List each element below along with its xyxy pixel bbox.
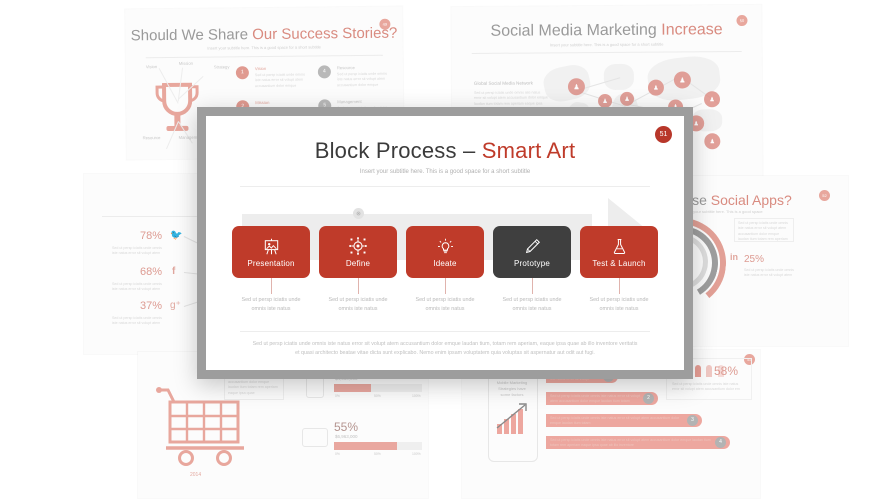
presentation-board-icon bbox=[263, 236, 280, 256]
page-title-primary: Block Process – bbox=[315, 138, 482, 163]
network-node[interactable]: ♟ bbox=[648, 80, 664, 96]
ecommerce-axis-1-mid: 50% bbox=[374, 394, 381, 398]
success-item-label-2: Mission bbox=[255, 100, 269, 105]
network-node[interactable]: ♟ bbox=[674, 71, 691, 88]
process-block-prototype[interactable]: Prototype bbox=[493, 226, 571, 278]
bg-socialapps-title-accent: Social Apps? bbox=[711, 192, 792, 208]
googleplus-icon: g⁺ bbox=[170, 300, 181, 311]
connector-line bbox=[271, 278, 272, 294]
connector-line bbox=[532, 278, 533, 294]
pencil-icon bbox=[524, 236, 541, 256]
process-block-row: Presentation bbox=[232, 226, 658, 278]
whatpeople-value-78: 78% bbox=[140, 230, 162, 242]
success-item-label-1: Vision bbox=[255, 66, 266, 71]
trophy-label-vision: Vision bbox=[146, 64, 157, 69]
process-caption: Sed ut persp iciatis unde omnis iste nat… bbox=[319, 296, 397, 314]
socialapps-stat-value: 25% bbox=[744, 254, 764, 265]
active-slide: 51 Block Process – Smart Art Insert your… bbox=[206, 116, 684, 370]
process-connector bbox=[406, 278, 484, 294]
whatpeople-body-78: Sed ut persp iciatis unde omnis iste nat… bbox=[112, 246, 162, 257]
body-paragraph: Sed ut persp iciatis unde omnis iste nat… bbox=[252, 340, 638, 359]
ecommerce-bar-track-2 bbox=[334, 442, 422, 450]
slide-gallery-canvas: Should We Share Our Success Stories? Ins… bbox=[0, 0, 889, 500]
monitor-icon bbox=[302, 428, 328, 447]
connector-line bbox=[619, 278, 620, 294]
bar-chart-growth-icon bbox=[495, 402, 531, 436]
whatpeople-body-68: Sed ut persp iciatis unde omnis iste nat… bbox=[112, 282, 162, 293]
network-node[interactable]: ♟ bbox=[620, 92, 634, 106]
network-node[interactable]: ♟ bbox=[568, 78, 585, 95]
process-connector bbox=[493, 278, 571, 294]
success-item-body-1: Sed ut persp iciatis unde omnis iste nat… bbox=[255, 73, 307, 90]
linkedin-icon: in bbox=[730, 252, 738, 262]
ecommerce-amount-2: $6,963,000 bbox=[335, 434, 358, 439]
gear-icon bbox=[353, 208, 364, 219]
process-block-label: Presentation bbox=[247, 259, 294, 268]
socialapps-stat-body: Sed ut persp iciatis unde omnis iste nat… bbox=[744, 268, 798, 279]
trophy-label-mission: Mission bbox=[179, 61, 193, 66]
process-block-presentation[interactable]: Presentation bbox=[232, 226, 310, 278]
trophy-label-resource: Resource bbox=[143, 135, 161, 140]
socialmkt-panel-heading: Global Social Media Network bbox=[474, 80, 548, 87]
bg-socialmkt-subtitle: Insert your subtitle here. This is a goo… bbox=[452, 41, 762, 48]
caption-line-1: Sed ut persp iciatis unde bbox=[580, 296, 658, 305]
bg-socialmkt-title-accent: Increase bbox=[661, 21, 722, 38]
whatpeople-body-37: Sed ut persp iciatis unde omnis iste nat… bbox=[112, 316, 162, 327]
facebook-icon: f bbox=[172, 266, 175, 277]
success-item-label-5: Management bbox=[337, 99, 362, 104]
ecommerce-bar-fill-2 bbox=[334, 442, 397, 450]
network-node[interactable]: ♟ bbox=[704, 91, 720, 107]
bg-success-title-accent: Our Success Stories? bbox=[252, 25, 397, 44]
mobile-bar-text-2: Sed ut persp iciatis unde omnis iste nat… bbox=[550, 394, 642, 405]
process-connector bbox=[580, 278, 658, 294]
caption-line-2: omnis iste natus bbox=[580, 305, 658, 314]
bg-socialmkt-title-primary: Social Media Marketing bbox=[490, 22, 661, 40]
twitter-icon: 🐦 bbox=[170, 230, 182, 241]
bg-slide-social-apps[interactable]: Use Social Apps? Insert your subtitle he… bbox=[672, 176, 848, 346]
whatpeople-value-68: 68% bbox=[140, 266, 162, 278]
caption-line-1: Sed ut persp iciatis unde bbox=[319, 296, 397, 305]
mobile-bar-num-4: 4 bbox=[715, 437, 726, 448]
process-connector bbox=[232, 278, 310, 294]
ecommerce-bar-track-1 bbox=[334, 384, 422, 392]
caption-line-1: Sed ut persp iciatis unde bbox=[232, 296, 310, 305]
success-item-body-4: Sed ut persp iciatis unde omnis iste nat… bbox=[337, 72, 389, 89]
trophy-label-strategy: Strategy bbox=[214, 64, 230, 69]
page-title: Block Process – Smart Art bbox=[206, 138, 684, 164]
caption-line-1: Sed ut persp iciatis unde bbox=[493, 296, 571, 305]
flask-icon bbox=[611, 236, 628, 256]
ecommerce-axis-1-max: 100% bbox=[412, 394, 421, 398]
socialapps-callout-text: Sed ut persp iciatis unde omnis iste nat… bbox=[738, 221, 788, 243]
ecommerce-bar-fill-1 bbox=[334, 384, 371, 392]
caption-line-2: omnis iste natus bbox=[319, 305, 397, 314]
ecommerce-axis-1-min: 0% bbox=[335, 394, 340, 398]
bg-success-subtitle: Insert your subtitle here. This is a goo… bbox=[126, 44, 403, 52]
success-item-num-1[interactable]: 1 bbox=[236, 66, 249, 79]
process-caption: Sed ut persp iciatis unde omnis iste nat… bbox=[493, 296, 571, 314]
mobile-bar-text-4: Sed ut persp iciatis unde omnis iste nat… bbox=[550, 438, 712, 449]
bg-success-title-primary: Should We Share bbox=[131, 26, 253, 44]
bg-socialmkt-badge: 50 bbox=[736, 15, 747, 26]
lightbulb-icon bbox=[437, 236, 454, 256]
process-caption: Sed ut persp iciatis unde omnis iste nat… bbox=[406, 296, 484, 314]
bg-success-badge: 49 bbox=[379, 19, 390, 30]
ecommerce-axis-2-mid: 50% bbox=[374, 452, 381, 456]
body-divider bbox=[240, 331, 650, 332]
ecommerce-axis-2-max: 100% bbox=[412, 452, 421, 456]
mobile-bar-num-2: 2 bbox=[643, 393, 654, 404]
process-caption: Sed ut persp iciatis unde omnis iste nat… bbox=[580, 296, 658, 314]
success-item-label-4: Resource bbox=[337, 65, 355, 70]
process-caption-row: Sed ut persp iciatis unde omnis iste nat… bbox=[232, 296, 658, 314]
process-block-label: Ideate bbox=[433, 259, 456, 268]
bg-socialmkt-divider bbox=[472, 51, 742, 54]
connector-line bbox=[358, 278, 359, 294]
whatpeople-value-37: 37% bbox=[140, 300, 162, 312]
process-block-ideate[interactable]: Ideate bbox=[406, 226, 484, 278]
ecommerce-axis-2-min: 0% bbox=[335, 452, 340, 456]
network-node[interactable]: ♟ bbox=[598, 94, 612, 108]
bg-success-title: Should We Share Our Success Stories? bbox=[125, 25, 402, 45]
network-node[interactable]: ♟ bbox=[704, 133, 720, 149]
map-continent bbox=[541, 62, 593, 105]
mobile-bar-3[interactable]: Sed ut persp iciatis unde omnis iste nat… bbox=[546, 414, 702, 427]
caption-line-2: omnis iste natus bbox=[493, 305, 571, 314]
mobile-phone-heading: Mobile Marketing Strategies have some fa… bbox=[494, 380, 530, 398]
mobile-stat-value: 58% bbox=[714, 364, 738, 378]
mobile-bar-text-3: Sed ut persp iciatis unde omnis iste nat… bbox=[550, 416, 684, 427]
caption-line-1: Sed ut persp iciatis unde bbox=[406, 296, 484, 305]
mobile-bar-2[interactable]: Sed ut persp iciatis unde omnis iste nat… bbox=[546, 392, 658, 405]
target-crosshair-icon bbox=[349, 236, 367, 256]
process-connector-row bbox=[232, 278, 658, 294]
process-connector bbox=[319, 278, 397, 294]
mobile-stat-body: Sed ut persp iciatis unde omnis iste nat… bbox=[672, 382, 744, 393]
page-subtitle: Insert your subtitle here. This is a goo… bbox=[206, 169, 684, 175]
process-block-label: Define bbox=[346, 259, 370, 268]
process-block-test-launch[interactable]: Test & Launch bbox=[580, 226, 658, 278]
process-block-define[interactable]: Define bbox=[319, 226, 397, 278]
connector-line bbox=[445, 278, 446, 294]
bg-socialmkt-title: Social Media Marketing Increase bbox=[451, 21, 761, 41]
ecommerce-value-2: 55% bbox=[334, 420, 358, 434]
page-title-accent: Smart Art bbox=[482, 138, 576, 163]
bg-socialapps-badge: 52 bbox=[819, 190, 830, 201]
active-slide-frame[interactable]: 51 Block Process – Smart Art Insert your… bbox=[197, 107, 693, 379]
success-item-num-4[interactable]: 4 bbox=[318, 65, 331, 78]
ecommerce-cart-year: 2014 bbox=[190, 472, 201, 478]
bg-success-divider bbox=[146, 55, 383, 58]
process-block-label: Test & Launch bbox=[592, 259, 645, 268]
caption-line-2: omnis iste natus bbox=[232, 305, 310, 314]
caption-line-2: omnis iste natus bbox=[406, 305, 484, 314]
mobile-bar-4[interactable]: Sed ut persp iciatis unde omnis iste nat… bbox=[546, 436, 730, 449]
mobile-bar-num-3: 3 bbox=[687, 415, 698, 426]
process-caption: Sed ut persp iciatis unde omnis iste nat… bbox=[232, 296, 310, 314]
bg-socialapps-subtitle: Insert your subtitle here. This is a goo… bbox=[682, 209, 848, 214]
process-block-label: Prototype bbox=[514, 259, 550, 268]
title-divider bbox=[240, 186, 650, 187]
